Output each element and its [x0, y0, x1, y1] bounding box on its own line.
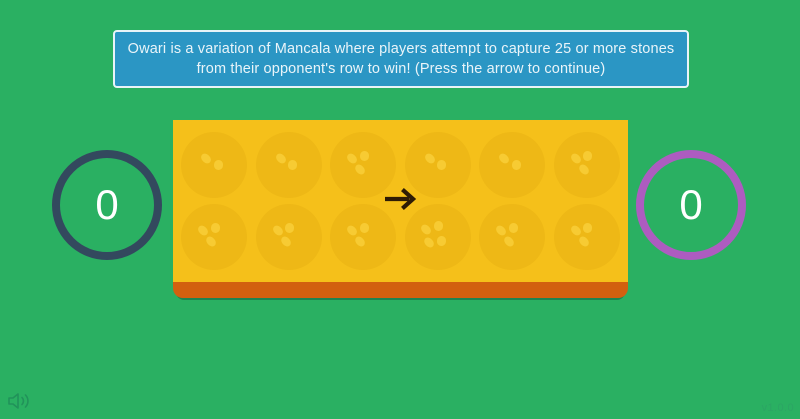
speaker-on-icon[interactable]: [6, 389, 36, 413]
stone: [569, 223, 582, 236]
player-two-score-value: 0: [679, 184, 702, 226]
pit-bottom-1[interactable]: [181, 204, 247, 270]
stone: [498, 151, 511, 164]
stone: [437, 160, 446, 170]
stone: [509, 223, 518, 233]
stone: [583, 223, 592, 233]
pit-bottom-4[interactable]: [405, 204, 471, 270]
stone: [360, 151, 369, 161]
pit-bottom-6[interactable]: [554, 204, 620, 270]
pit-top-5[interactable]: [479, 132, 545, 198]
board-row-bottom: [181, 204, 620, 270]
stone: [495, 223, 508, 236]
stone: [345, 151, 358, 164]
stone: [288, 160, 297, 170]
stone: [285, 223, 294, 233]
stone: [434, 221, 443, 231]
instruction-line-2: from their opponent's row to win! (Press…: [197, 59, 606, 79]
stone: [437, 236, 447, 247]
stone: [274, 151, 287, 164]
stone: [271, 223, 284, 236]
player-one-score-circle: 0: [52, 150, 162, 260]
stone: [503, 234, 516, 248]
stone: [569, 151, 582, 164]
stone: [583, 151, 592, 161]
stone: [419, 222, 432, 235]
stone: [199, 151, 212, 164]
pit-bottom-3[interactable]: [330, 204, 396, 270]
stone: [423, 151, 436, 164]
pit-top-2[interactable]: [256, 132, 322, 198]
game-stage: Owari is a variation of Mancala where pl…: [0, 0, 800, 419]
player-two-score-circle: 0: [636, 150, 746, 260]
stone: [422, 235, 435, 249]
player-one-score-value: 0: [95, 184, 118, 226]
pit-top-1[interactable]: [181, 132, 247, 198]
stone: [577, 234, 590, 248]
version-label: v1.0.0: [762, 402, 794, 414]
stone: [354, 234, 367, 248]
pit-bottom-5[interactable]: [479, 204, 545, 270]
instruction-line-1: Owari is a variation of Mancala where pl…: [128, 39, 675, 59]
instruction-banner: Owari is a variation of Mancala where pl…: [113, 30, 689, 88]
stone: [279, 234, 292, 248]
stone: [204, 234, 217, 248]
stone: [577, 162, 590, 176]
pit-bottom-2[interactable]: [256, 204, 322, 270]
stone: [512, 160, 521, 170]
stone: [354, 162, 367, 176]
stone: [196, 223, 209, 236]
stone: [345, 223, 358, 236]
arrow-right-icon[interactable]: [385, 186, 419, 212]
stone: [210, 223, 219, 233]
stone: [213, 160, 222, 170]
pit-top-6[interactable]: [554, 132, 620, 198]
stone: [360, 223, 369, 233]
